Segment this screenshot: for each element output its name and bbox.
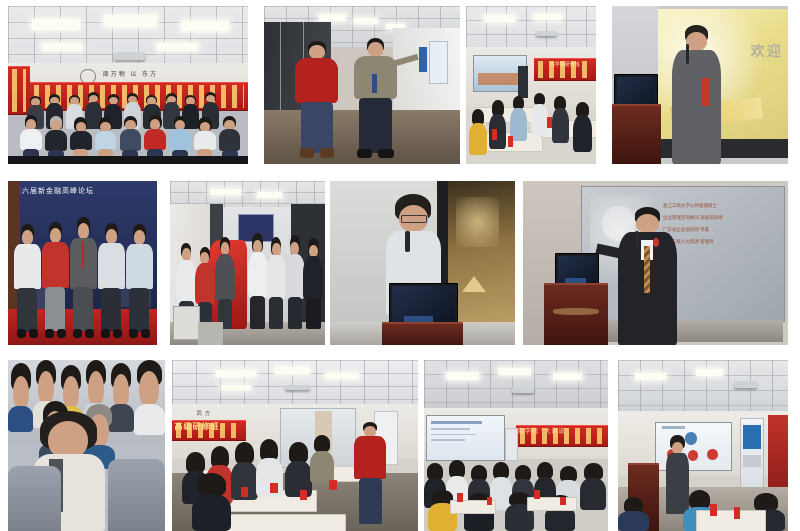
- person: [14, 224, 41, 338]
- wall-sign: [419, 47, 427, 72]
- photo-r3c1[interactable]: [8, 360, 165, 531]
- wall-below-slide: [581, 320, 782, 341]
- person: [126, 224, 153, 338]
- photo-r1c2[interactable]: [264, 6, 460, 164]
- person: [42, 222, 69, 339]
- scene-presenter-laptop: [330, 181, 515, 345]
- banner-text: 商学院研修班: [535, 60, 595, 77]
- photo-r3c3[interactable]: 商学院 “大讲说”: [424, 360, 608, 531]
- table-prop: [241, 487, 248, 497]
- scene-group-photo: 周万物 以 东方: [8, 6, 248, 164]
- microphone-icon: [686, 44, 689, 63]
- glasses-icon: [401, 215, 427, 223]
- laptop: [389, 283, 458, 328]
- scene-corridor: [264, 6, 460, 164]
- scene-presenter-diagram: [618, 360, 788, 531]
- panel-light: [181, 21, 229, 31]
- person: [285, 442, 312, 497]
- panel-light: [484, 15, 515, 22]
- table-prop: [329, 480, 336, 490]
- banner-text: 高级研修班: [174, 422, 243, 437]
- projector-icon: [285, 385, 310, 391]
- photo-collage: 周万物 以 东方: [0, 0, 800, 531]
- table: [226, 514, 346, 531]
- photo-r2c2[interactable]: [170, 181, 325, 345]
- microphone-icon: [635, 231, 639, 250]
- panel-light: [498, 368, 531, 375]
- scene-audience-closeup: [8, 360, 165, 531]
- person: [248, 233, 268, 328]
- person: [285, 235, 305, 328]
- right-slide-panel: [448, 181, 515, 345]
- table-prop: [710, 504, 717, 516]
- table-prop: [270, 483, 277, 493]
- photo-r2c3[interactable]: [330, 181, 515, 345]
- diagram-node: [707, 449, 717, 460]
- panel-light: [354, 18, 378, 24]
- person: [303, 238, 323, 328]
- backdrop-title: 第六届新金融高峰论坛: [14, 186, 151, 199]
- chair: [108, 459, 165, 531]
- necktie: [82, 241, 85, 268]
- microphone-icon: [405, 231, 410, 253]
- photo-r1c4[interactable]: 欢迎: [612, 6, 788, 164]
- lapel-flower: [653, 238, 658, 248]
- panel-light: [325, 373, 359, 379]
- panel-light: [157, 43, 198, 51]
- person: [192, 473, 231, 531]
- wall-slogan: 周万物 以 东方: [94, 71, 166, 80]
- projector-icon: [512, 387, 534, 392]
- table-prop: [560, 497, 566, 506]
- panel-light: [210, 189, 241, 195]
- slide-text: 欢迎: [751, 41, 783, 61]
- person-suited-speaker: [618, 207, 676, 345]
- slide-line: 浙江工商大学公共管理硕士: [663, 200, 776, 212]
- panel-light: [216, 370, 255, 377]
- scene-speaker-welcome: 欢迎: [612, 6, 788, 164]
- table: [696, 510, 766, 531]
- person: [8, 363, 33, 431]
- person: [70, 217, 97, 338]
- table-prop: [457, 493, 463, 502]
- panel-light: [257, 192, 282, 198]
- wall-poster: [429, 41, 449, 84]
- foreground-shadow: [8, 156, 248, 164]
- projector-icon: [734, 381, 758, 388]
- person: [98, 223, 125, 338]
- person-speaker: [672, 25, 721, 164]
- ceiling: [618, 360, 788, 418]
- panel-light: [319, 14, 346, 21]
- projector-icon: [536, 31, 557, 37]
- panel-light: [446, 372, 479, 380]
- person: [310, 435, 335, 483]
- scene-lecture-hall: 商学院 “大讲说”: [424, 360, 608, 531]
- table-prop: [492, 129, 497, 140]
- podium: [612, 104, 661, 164]
- slide-text-block: 浙江工商大学公共管理硕士 企业管理咨询顾问 高级培训师 广东省企业培训师 专家 …: [663, 200, 776, 283]
- table: [527, 497, 577, 511]
- audience: [424, 456, 608, 531]
- badge-lanyard: [372, 74, 376, 93]
- panel-light: [275, 367, 309, 374]
- panel-light: [635, 373, 666, 381]
- projection-screen: [426, 415, 505, 461]
- photo-r1c3[interactable]: 商学院研修班: [466, 6, 596, 164]
- panel-light: [534, 14, 563, 20]
- held-object: [702, 78, 710, 106]
- rollup-banner: [740, 418, 764, 492]
- person: [266, 237, 286, 329]
- person: [215, 237, 235, 329]
- person-red-shirt: [295, 41, 338, 158]
- lectern: [382, 322, 463, 345]
- slide-line: 企业管理咨询顾问 高级培训师: [663, 212, 776, 224]
- equipment-box: [198, 322, 223, 345]
- scene-unveiling: [170, 181, 325, 345]
- person-instructor: [354, 422, 386, 525]
- panel-light: [553, 373, 582, 380]
- person: [618, 497, 649, 531]
- scene-forum-red-carpet: 第六届新金融高峰论坛: [8, 181, 157, 345]
- necktie: [644, 246, 650, 293]
- photo-r3c4[interactable]: [618, 360, 788, 531]
- panel-light: [696, 369, 723, 376]
- photo-r2c4[interactable]: 浙江工商大学公共管理硕士 企业管理咨询顾问 高级培训师 广东省企业培训师 专家 …: [523, 181, 788, 345]
- table-prop: [300, 490, 307, 500]
- slide-line: 国家二级人力资源 管理师: [663, 236, 776, 248]
- panel-light: [221, 385, 251, 390]
- person: [256, 439, 283, 497]
- person-pointing: [354, 38, 397, 158]
- posing-group: [14, 217, 154, 338]
- photo-r3c2[interactable]: 同 方 高级研修班: [172, 360, 418, 531]
- audience: [466, 88, 596, 164]
- chair: [8, 466, 61, 531]
- table-prop: [734, 507, 741, 519]
- projector-icon: [114, 52, 145, 60]
- photo-r2c1[interactable]: 第六届新金融高峰论坛: [8, 181, 157, 345]
- scene-seminar-tables: 同 方 高级研修班: [172, 360, 418, 531]
- table-prop: [547, 117, 552, 128]
- photo-r1c1[interactable]: 周万物 以 东方: [8, 6, 248, 164]
- equipment-box: [173, 306, 200, 341]
- scene-suited-speaker: 浙江工商大学公共管理硕士 企业管理咨询顾问 高级培训师 广东省企业培训师 专家 …: [523, 181, 788, 345]
- ceiling: [424, 360, 608, 415]
- table-prop: [534, 490, 540, 499]
- scene-classroom-workshop: 商学院研修班: [466, 6, 596, 164]
- table-prop: [508, 136, 513, 147]
- side-banner: [768, 415, 788, 494]
- panel-light: [104, 15, 157, 27]
- person: [134, 360, 165, 435]
- panel-light: [32, 19, 80, 30]
- slide-line: 广东省企业培训师 专家: [663, 224, 776, 236]
- podium-ornament: [553, 308, 599, 314]
- panel-light: [42, 43, 83, 51]
- podium: [544, 283, 608, 345]
- banner-text: 商学院 “大讲说”: [518, 427, 606, 444]
- table-prop: [487, 497, 493, 506]
